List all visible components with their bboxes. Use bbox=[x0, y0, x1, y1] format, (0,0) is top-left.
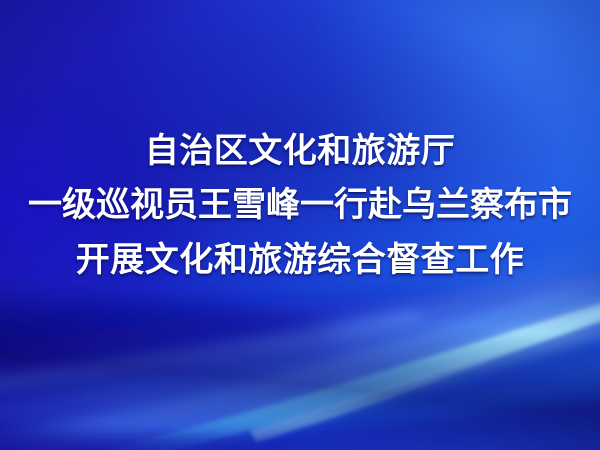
headline-line-2: 一级巡视员王雪峰一行赴乌兰察布市 bbox=[0, 178, 600, 233]
headline-block: 自治区文化和旅游厅 一级巡视员王雪峰一行赴乌兰察布市 开展文化和旅游综合督查工作 bbox=[0, 124, 600, 288]
banner-card: 自治区文化和旅游厅 一级巡视员王雪峰一行赴乌兰察布市 开展文化和旅游综合督查工作 bbox=[0, 0, 600, 450]
headline-line-3: 开展文化和旅游综合督查工作 bbox=[0, 233, 600, 288]
headline-line-1: 自治区文化和旅游厅 bbox=[0, 124, 600, 178]
